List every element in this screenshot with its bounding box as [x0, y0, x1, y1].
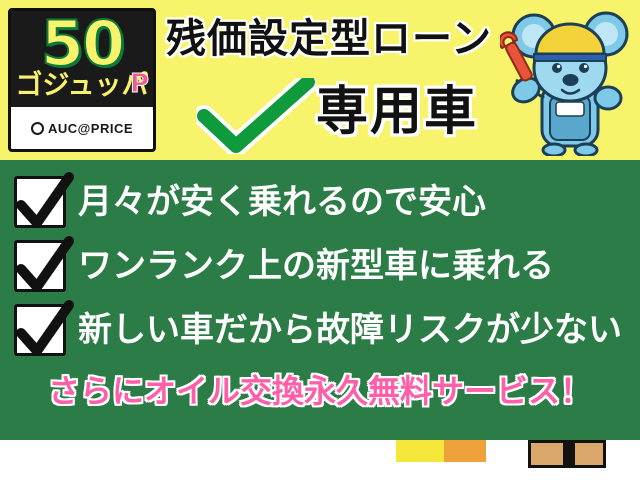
brand-logo-subtitle: AUC@PRICE: [48, 121, 133, 136]
brand-logo: 50 ゴジュッパ P AUC@PRICE: [8, 8, 156, 152]
benefit-item-2: ワンランク上の新型車に乗れる: [14, 238, 554, 294]
brand-logo-footer: AUC@PRICE: [11, 107, 153, 149]
benefits-panel: 月々が安く乗れるので安心 ワンランク上の新型車に乗れる 新しい車だから故障リスク…: [0, 160, 640, 440]
color-swatch-yellow: [396, 440, 444, 462]
headline-secondary: 専用車: [316, 82, 478, 142]
green-check-icon: [196, 78, 316, 154]
color-swatch-divider: [563, 443, 575, 465]
bottom-strip: [0, 440, 640, 480]
top-banner: 50 ゴジュッパ P AUC@PRICE 残価設定型ローン 専用車: [0, 0, 640, 160]
benefit-text-3: 新しい車だから故障リスクが少ない: [78, 310, 622, 350]
headline-primary: 残価設定型ローン: [166, 16, 492, 62]
brand-logo-number: 50: [41, 13, 123, 75]
benefit-text-2: ワンランク上の新型車に乗れる: [78, 246, 554, 286]
benefit-text-1: 月々が安く乗れるので安心: [78, 182, 486, 222]
benefits-tagline: さらにオイル交換永久無料サービス！: [0, 372, 640, 410]
checkbox-checked-icon: [14, 304, 66, 356]
checkbox-checked-icon: [14, 176, 66, 228]
color-swatch-orange: [444, 440, 486, 462]
benefit-item-1: 月々が安く乗れるので安心: [14, 174, 486, 230]
color-swatch-tan: [528, 440, 606, 468]
koala-mechanic-mascot-icon: [500, 6, 636, 156]
benefit-item-3: 新しい車だから故障リスクが少ない: [14, 302, 622, 358]
circle-mark-icon: [31, 122, 44, 135]
brand-logo-kana: ゴジュッパ: [15, 71, 148, 101]
promotional-poster: 50 ゴジュッパ P AUC@PRICE 残価設定型ローン 専用車: [0, 0, 640, 480]
brand-logo-accent: P: [130, 69, 149, 99]
brand-logo-dark-panel: 50 ゴジュッパ P: [11, 11, 153, 107]
checkbox-checked-icon: [14, 240, 66, 292]
